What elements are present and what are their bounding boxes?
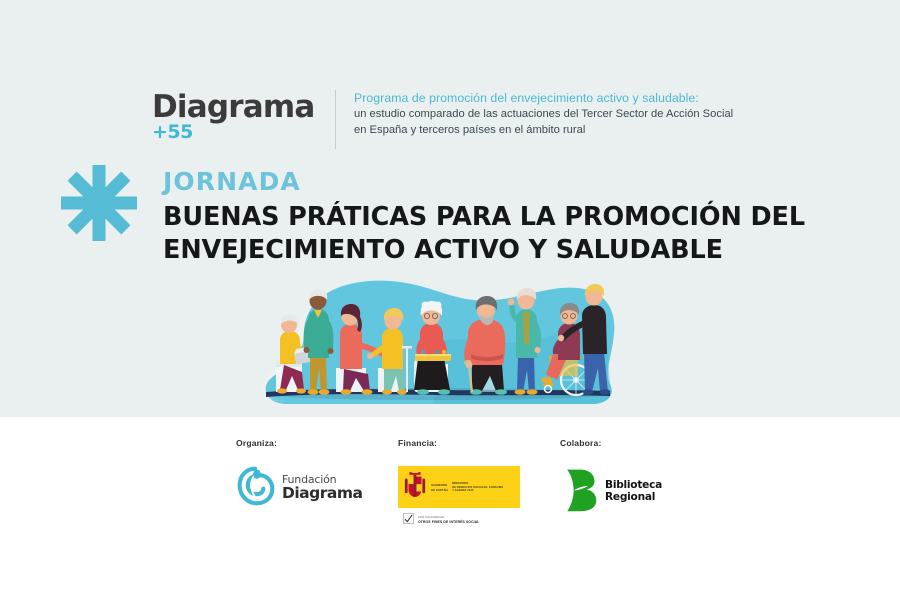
program-subtitle-line-1: un estudio comparado de las actuaciones … — [354, 107, 733, 123]
header-divider — [335, 90, 336, 149]
footer-label-colabora: Colabora: — [560, 438, 662, 448]
footer-label-financia: Financia: — [398, 438, 520, 448]
ministerio-yellow-box: GOBIERNO DE ESPAÑA MINISTERIO DE DERECHO… — [398, 466, 520, 508]
program-subtitle-line-2: en España y terceros países en el ámbito… — [354, 123, 733, 139]
diagrama-brand-logo: Diagrama+55 — [152, 88, 327, 149]
solidaridad-line-2: OTROS FINES DE INTERÉS SOCIAL — [418, 520, 480, 525]
header-lockup: Diagrama+55 Programa de promoción del en… — [152, 88, 733, 149]
gobierno-de-espana-text: GOBIERNO DE ESPAÑA — [431, 483, 448, 491]
biblioteca-regional-logo[interactable]: Biblioteca Regional — [560, 466, 662, 518]
program-text-block: Programa de promoción del envejecimiento… — [354, 88, 733, 139]
main-title-line-2: ENVEJECIMIENTO ACTIVO Y SALUDABLE — [163, 235, 723, 265]
biblioteca-b-mark-icon — [560, 466, 600, 518]
fundacion-diagrama-wordmark: Fundación Diagrama — [282, 474, 362, 504]
title-eyebrow-jornada: JORNADA — [163, 167, 823, 197]
footer-column-financia: Financia: — [398, 438, 520, 529]
main-title-line-1: BUENAS PRÁTICAS PARA LA PROMOCIÓN DEL — [163, 202, 805, 232]
footer-column-colabora: Colabora: Biblioteca Regional — [560, 438, 662, 518]
asterisk-icon — [58, 162, 140, 244]
biblioteca-line-2: Regional — [605, 492, 662, 504]
fundacion-diagrama-swirl-icon — [236, 466, 276, 511]
checkbox-check-icon — [403, 511, 414, 529]
footer-column-organiza: Organiza: Fundación Diagrama — [236, 438, 362, 511]
program-heading: Programa de promoción del envejecimiento… — [354, 90, 733, 107]
biblioteca-regional-wordmark: Biblioteca Regional — [605, 480, 662, 504]
fundacion-line-2: Diagrama — [282, 486, 362, 502]
ministerio-name-text: MINISTERIO DE DERECHOS SOCIALES, CONSUMO… — [452, 482, 503, 494]
escudo-espana-icon — [403, 471, 427, 504]
elderly-group-illustration — [258, 272, 618, 412]
title-block: JORNADA BUENAS PRÁTICAS PARA LA PROMOCIÓ… — [163, 167, 823, 267]
solidaridad-tagline: POR SOLIDARIDAD OTROS FINES DE INTERÉS S… — [398, 508, 520, 529]
fundacion-diagrama-logo[interactable]: Fundación Diagrama — [236, 466, 362, 511]
diagrama-wordmark: Diagrama — [152, 92, 315, 123]
ministerio-line-1: MINISTERIO — [452, 482, 468, 485]
poster-canvas: Diagrama+55 Programa de promoción del en… — [0, 0, 900, 600]
diagrama-plus55-superscript: +55 — [152, 121, 193, 143]
footer-label-organiza: Organiza: — [236, 438, 362, 448]
ministerio-line-3: Y AGENDA 2030 — [452, 489, 473, 492]
ministerio-logo[interactable]: GOBIERNO DE ESPAÑA MINISTERIO DE DERECHO… — [398, 466, 520, 529]
gobierno-line-2: DE ESPAÑA — [431, 488, 448, 492]
main-title: BUENAS PRÁTICAS PARA LA PROMOCIÓN DEL EN… — [163, 201, 823, 267]
